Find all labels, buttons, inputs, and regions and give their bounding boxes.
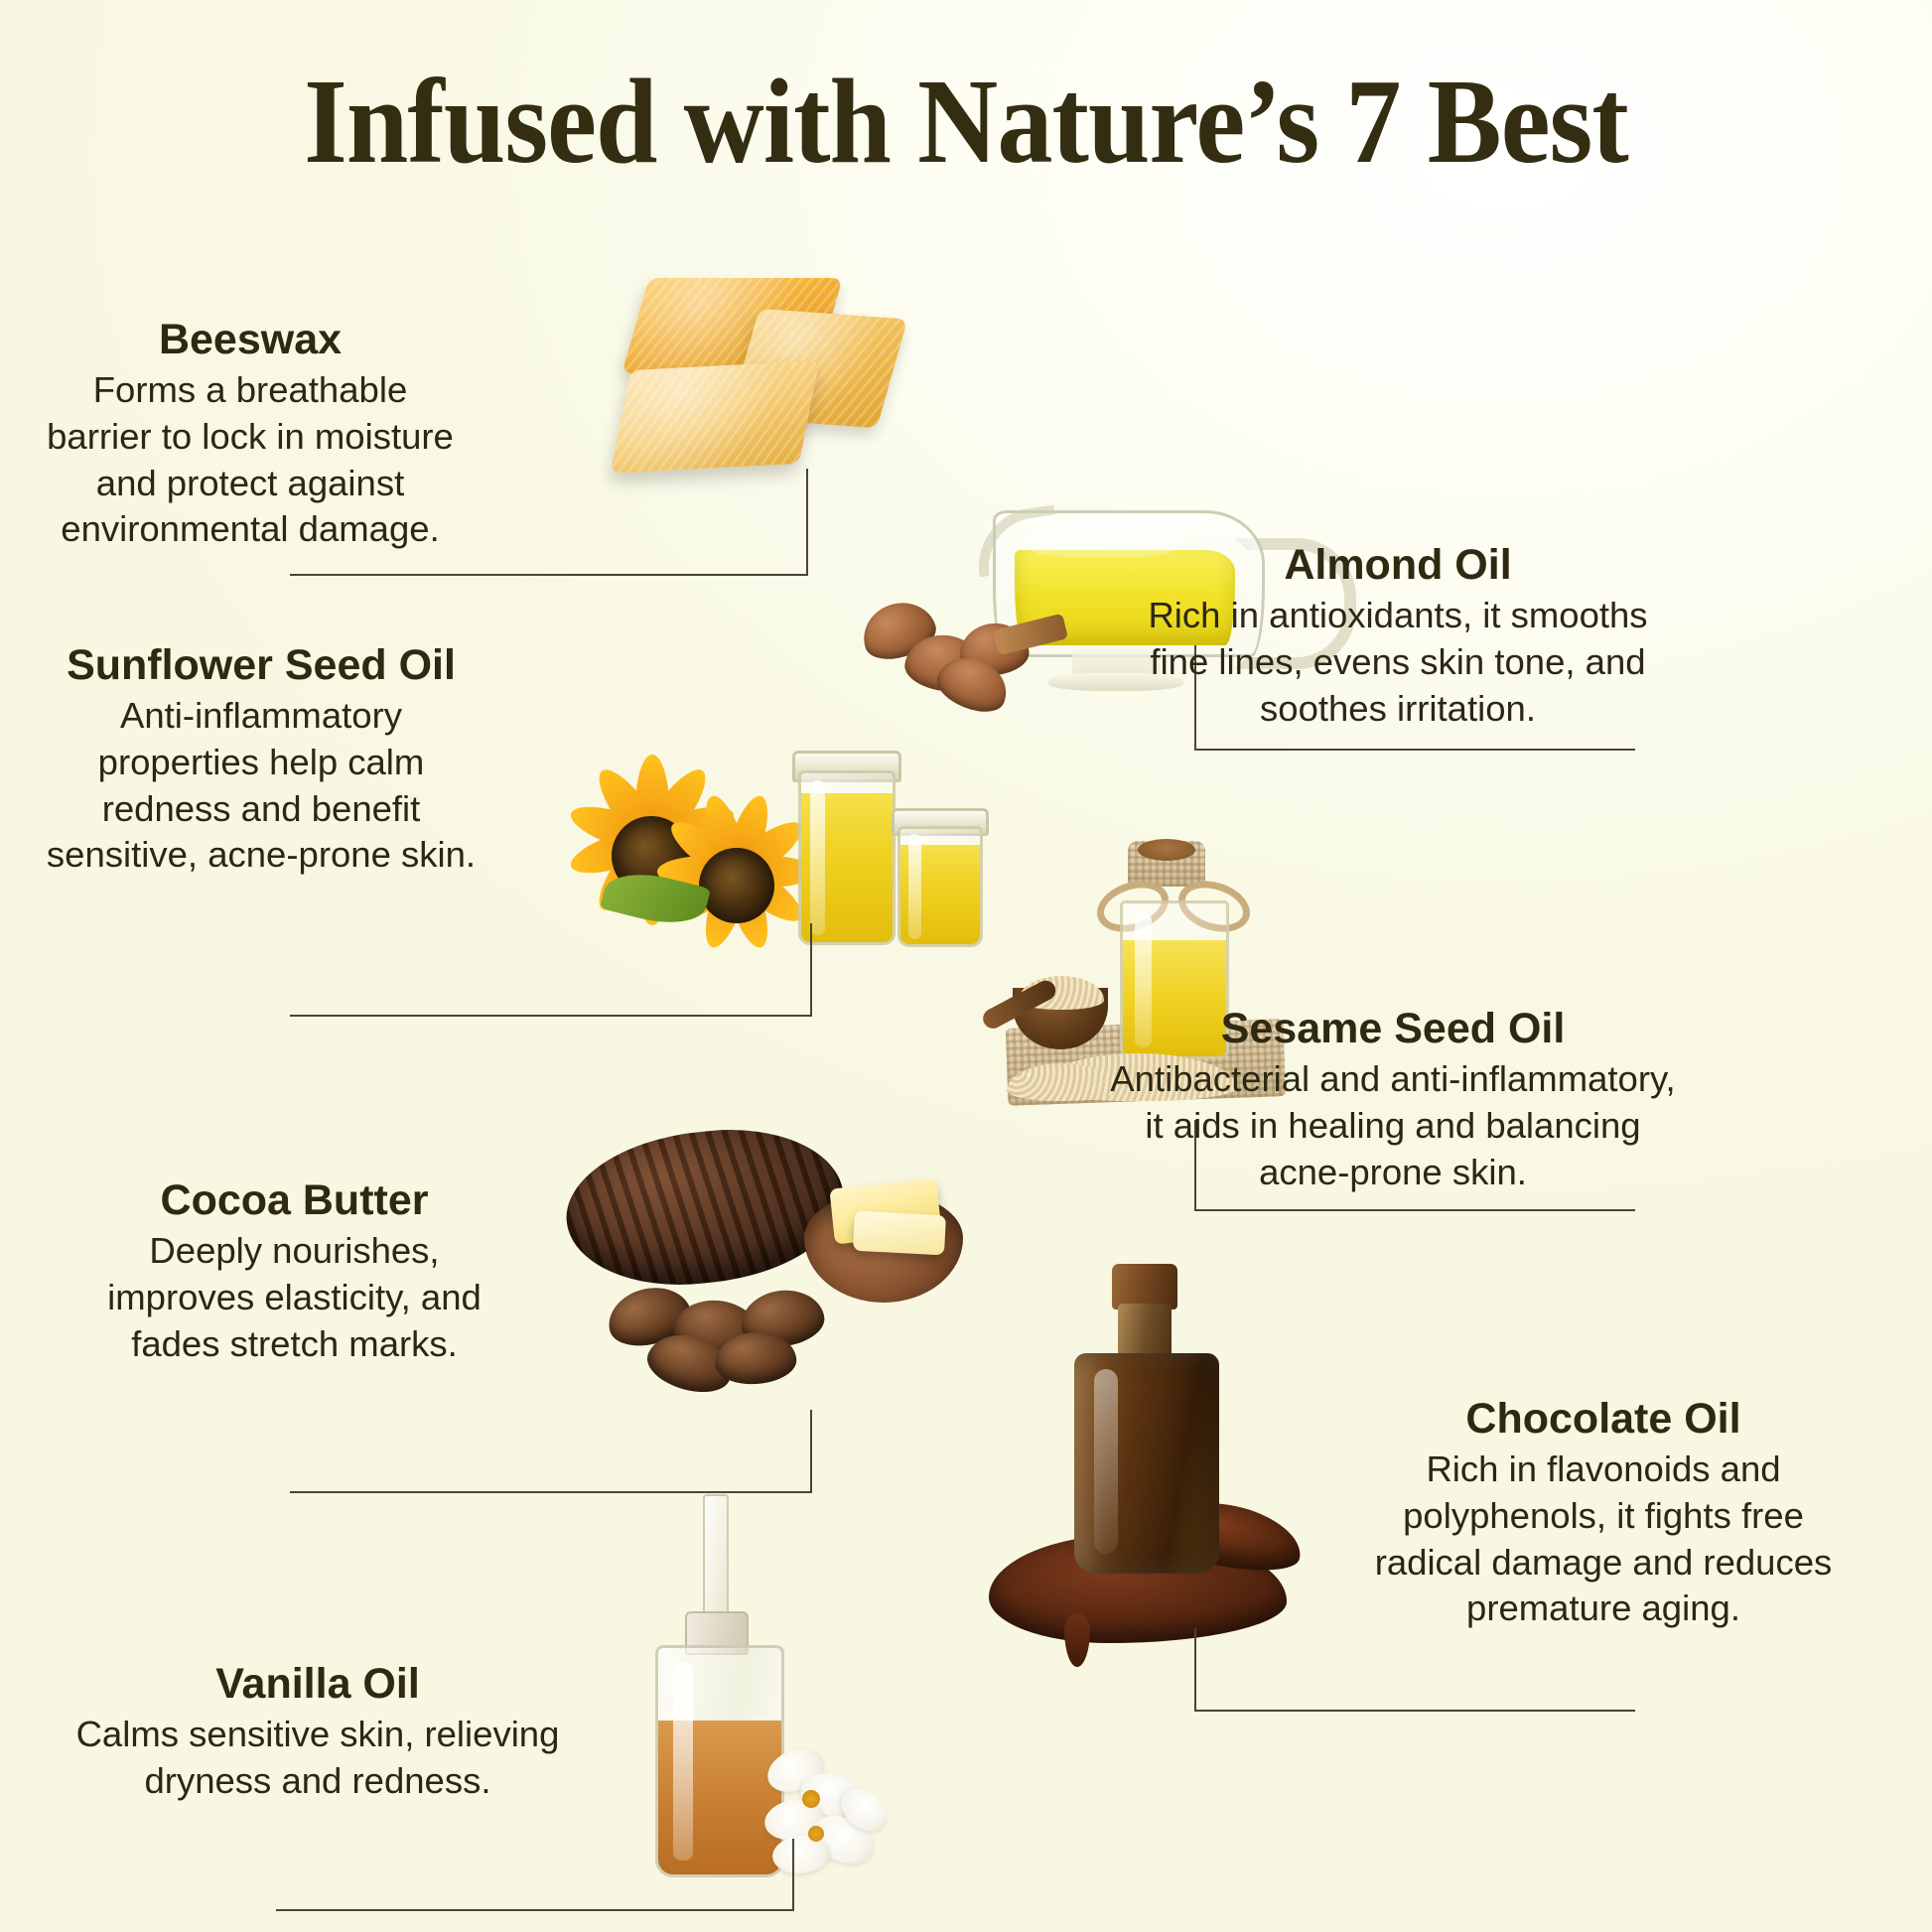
chocolate-oil-bottle-image (1003, 1246, 1400, 1663)
beeswax-blocks-image (616, 278, 894, 496)
ingredient-block-cocoa-butter: Cocoa Butter Deeply nourishes, improves … (83, 1176, 505, 1367)
page-title: Infused with Nature’s 7 Best (77, 62, 1855, 183)
ingredient-block-sunflower-seed-oil: Sunflower Seed Oil Anti-inflammatory pro… (38, 641, 484, 879)
ingredient-name-cocoa-butter: Cocoa Butter (83, 1176, 505, 1224)
ingredient-description-sesame-seed-oil: Antibacterial and anti-inflammatory, it … (1110, 1056, 1676, 1195)
connector-line-chocolate-oil (1194, 1628, 1635, 1712)
connector-line-vanilla-oil (276, 1839, 794, 1911)
ingredient-name-chocolate-oil: Chocolate Oil (1370, 1395, 1837, 1443)
cocoa-pod-beans-butter-image (556, 1122, 983, 1400)
ingredient-name-sesame-seed-oil: Sesame Seed Oil (1110, 1005, 1676, 1052)
vanilla-oil-dropper-bottle-flower-image (625, 1494, 983, 1891)
ingredient-description-almond-oil: Rich in antioxidants, it smooths fine li… (1120, 593, 1676, 732)
ingredient-name-sunflower-seed-oil: Sunflower Seed Oil (38, 641, 484, 689)
ingredient-description-chocolate-oil: Rich in flavonoids and polyphenols, it f… (1370, 1447, 1837, 1632)
ingredient-block-sesame-seed-oil: Sesame Seed Oil Antibacterial and anti-i… (1110, 1005, 1676, 1195)
ingredient-name-beeswax: Beeswax (42, 316, 459, 363)
ingredient-description-cocoa-butter: Deeply nourishes, improves elasticity, a… (83, 1228, 505, 1367)
ingredient-block-vanilla-oil: Vanilla Oil Calms sensitive skin, reliev… (60, 1660, 576, 1805)
ingredient-name-almond-oil: Almond Oil (1120, 541, 1676, 589)
ingredient-description-sunflower-seed-oil: Anti-inflammatory properties help calm r… (38, 693, 484, 879)
connector-line-sunflower-seed-oil (290, 923, 812, 1017)
ingredient-block-almond-oil: Almond Oil Rich in antioxidants, it smoo… (1120, 541, 1676, 732)
ingredient-block-chocolate-oil: Chocolate Oil Rich in flavonoids and pol… (1370, 1395, 1837, 1632)
connector-line-cocoa-butter (290, 1410, 812, 1493)
ingredient-description-beeswax: Forms a breathable barrier to lock in mo… (42, 367, 459, 553)
infographic-canvas: Infused with Nature’s 7 Best (0, 0, 1932, 1932)
ingredient-block-beeswax: Beeswax Forms a breathable barrier to lo… (42, 316, 459, 553)
ingredient-name-vanilla-oil: Vanilla Oil (60, 1660, 576, 1708)
ingredient-description-vanilla-oil: Calms sensitive skin, relieving dryness … (60, 1712, 576, 1804)
